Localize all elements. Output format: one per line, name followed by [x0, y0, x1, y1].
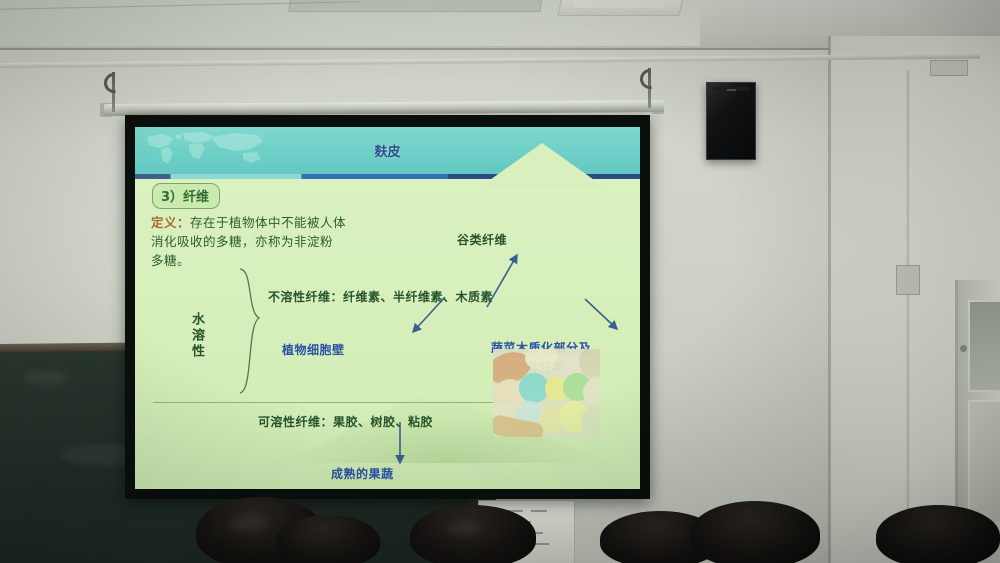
- poster-text-line: [531, 510, 547, 512]
- photo-overlay-tint: [493, 349, 600, 437]
- definition-line-2: 消化吸收的多糖，亦称为非淀粉: [151, 232, 431, 251]
- section-title-box: 3）纤维: [152, 183, 220, 209]
- chalk-smudge: [24, 370, 68, 386]
- mountain-graphic: [480, 143, 604, 187]
- definition-line-1: 定义：存在于植物体中不能被人体: [151, 213, 431, 232]
- hair-highlight: [446, 523, 482, 535]
- door-knob[interactable]: [960, 345, 967, 352]
- student-silhouette: [276, 515, 380, 563]
- fruit-candy-photo: [493, 349, 600, 437]
- ceiling-light-diffuser: [574, 0, 667, 8]
- speaker-logo: [727, 89, 736, 91]
- label-plant-cell-wall: 植物细胞壁: [282, 341, 345, 358]
- definition-label: 定义：: [151, 215, 190, 230]
- label-soluble-fiber: 可溶性纤维：果胶、树胶、粘胶: [258, 413, 433, 430]
- label-cereal-fiber: 谷类纤维: [457, 231, 507, 248]
- door-window: [968, 300, 1000, 392]
- definition-block: 定义：存在于植物体中不能被人体 消化吸收的多糖，亦称为非淀粉 多糖。: [151, 213, 431, 270]
- presentation-slide: 麸皮 3）纤维 定义：存在于植物体中不能被人体 消化吸收的多糖，亦称为非淀粉 多…: [135, 127, 640, 489]
- label-solubility: 水溶性: [187, 312, 206, 360]
- label-ripe-fruit: 成熟的果蔬: [331, 465, 394, 482]
- poster-text-line: [535, 543, 549, 545]
- wall-speaker: [706, 82, 756, 160]
- student-silhouette: [690, 501, 820, 563]
- wall-junction-box: [896, 265, 920, 295]
- conduit-junction-box-upper: [930, 60, 968, 76]
- definition-line-3: 多糖。: [151, 251, 431, 270]
- classroom-photo: ↱ラ⼆刘⼝勿⼝ ⼀习夏ヒ —: [0, 0, 1000, 563]
- label-insoluble-fiber: 不溶性纤维：纤维素、半纤维素、木质素: [268, 288, 493, 305]
- wall-corner-edge: [828, 36, 831, 563]
- wall-conduit-vertical: [905, 70, 909, 540]
- door-panel: [968, 400, 1000, 524]
- student-silhouette: [876, 505, 1000, 563]
- hair-highlight: [230, 517, 270, 531]
